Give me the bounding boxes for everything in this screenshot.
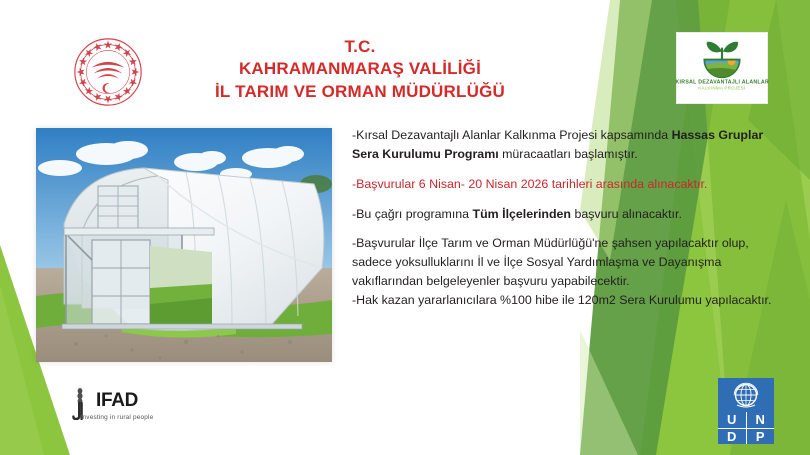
page-title: T.C. KAHRAMANMARAŞ VALİLİĞİ İL TARIM VE … xyxy=(180,36,540,103)
un-emblem-icon xyxy=(718,378,774,412)
body-text-run: -Başvurular İlçe Tarım ve Orman Müdürlüğ… xyxy=(352,236,749,288)
title-line-2: KAHRAMANMARAŞ VALİLİĞİ xyxy=(180,58,540,80)
undp-letter-u: U xyxy=(718,412,746,428)
body-text-run: müracaatları başlamıştır. xyxy=(499,147,638,161)
announcement-paragraph: -Bu çağrı programına Tüm İlçelerinden ba… xyxy=(352,205,772,224)
ifad-logo: IFAD Investing in rural people xyxy=(62,386,172,430)
ministry-emblem-icon xyxy=(72,36,144,108)
body-text-run: -Başvurular 6 Nisan- 20 Nisan 2026 tarih… xyxy=(352,177,707,191)
undp-letter-d: D xyxy=(718,429,746,445)
title-line-1: T.C. xyxy=(180,36,540,58)
announcement-paragraph: -Başvurular İlçe Tarım ve Orman Müdürlüğ… xyxy=(352,234,772,291)
undp-letter-n: N xyxy=(747,412,775,428)
sprout-field-sun-icon xyxy=(698,37,746,79)
kdakp-caption-line-2: KALKINMA PROJESİ xyxy=(698,85,745,91)
presentation-slide: T.C. KAHRAMANMARAŞ VALİLİĞİ İL TARIM VE … xyxy=(0,0,810,455)
announcement-paragraph: -Kırsal Dezavantajlı Alanlar Kalkınma Pr… xyxy=(352,126,772,164)
title-line-3: İL TARIM VE ORMAN MÜDÜRLÜĞÜ xyxy=(180,81,540,103)
emphasised-text: Tüm İlçelerinden xyxy=(473,207,571,221)
undp-letter-p: P xyxy=(747,429,775,445)
announcement-paragraph: -Hak kazan yararlanıcılara %100 hibe ile… xyxy=(352,291,772,310)
body-text-run: -Hak kazan yararlanıcılara %100 hibe ile… xyxy=(352,293,771,307)
kdakp-caption-line-1: KIRSAL DEZAVANTAJLI ALANLAR xyxy=(675,79,769,85)
kdakp-project-logo: KIRSAL DEZAVANTAJLI ALANLAR KALKINMA PRO… xyxy=(676,32,768,104)
undp-logo: U N D P xyxy=(718,378,774,444)
ifad-tagline: Investing in rural people xyxy=(62,414,172,421)
undp-letters: U N D P xyxy=(718,412,774,444)
announcement-text: -Kırsal Dezavantajlı Alanlar Kalkınma Pr… xyxy=(352,126,772,321)
greenhouse-photo xyxy=(36,128,332,362)
announcement-paragraph: -Başvurular 6 Nisan- 20 Nisan 2026 tarih… xyxy=(352,175,772,194)
body-text-run: -Bu çağrı programına xyxy=(352,207,473,221)
ifad-wordmark: IFAD xyxy=(96,390,138,412)
body-text-run: -Kırsal Dezavantajlı Alanlar Kalkınma Pr… xyxy=(352,128,672,142)
body-text-run: başvuru alınacaktır. xyxy=(571,207,682,221)
greenhouse-illustration xyxy=(36,128,332,362)
